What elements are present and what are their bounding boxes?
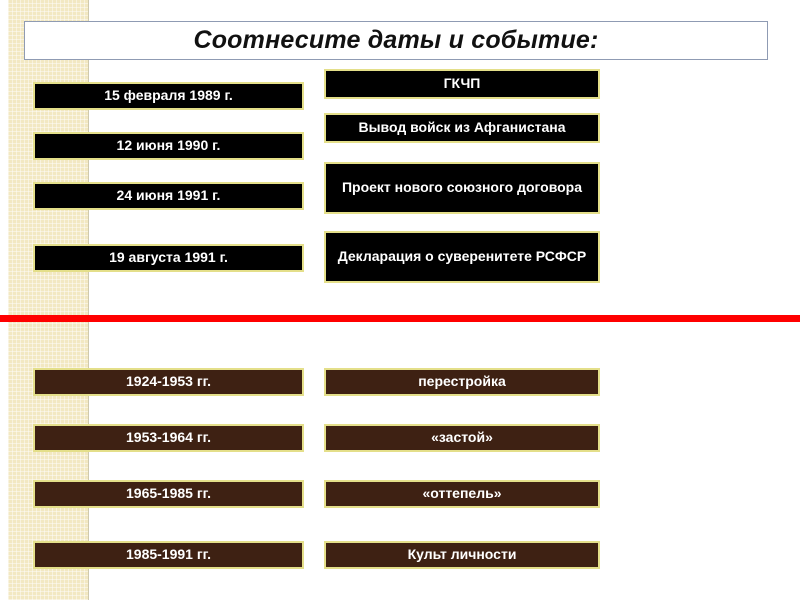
- slide-title-box: Соотнесите даты и событие:: [24, 21, 768, 60]
- term-card-3[interactable]: «оттепель»: [324, 480, 600, 508]
- date-card-1-label: 15 февраля 1989 г.: [104, 88, 233, 104]
- section-divider: [0, 315, 800, 322]
- term-card-1-label: перестройка: [418, 374, 506, 390]
- term-card-3-label: «оттепель»: [422, 486, 501, 502]
- slide-canvas: Соотнесите даты и событие: 15 февраля 19…: [0, 0, 800, 600]
- term-card-4[interactable]: Культ личности: [324, 541, 600, 569]
- period-card-1[interactable]: 1924-1953 гг.: [33, 368, 304, 396]
- event-card-1-label: ГКЧП: [444, 76, 481, 92]
- term-card-2-label: «застой»: [431, 430, 493, 446]
- term-card-2[interactable]: «застой»: [324, 424, 600, 452]
- event-card-2-label: Вывод войск из Афганистана: [358, 120, 565, 136]
- date-card-3-label: 24 июня 1991 г.: [117, 188, 221, 204]
- date-card-2[interactable]: 12 июня 1990 г.: [33, 132, 304, 160]
- period-card-4-label: 1985-1991 гг.: [126, 547, 211, 563]
- page-title: Соотнесите даты и событие:: [193, 26, 598, 55]
- period-card-3[interactable]: 1965-1985 гг.: [33, 480, 304, 508]
- date-card-4[interactable]: 19 августа 1991 г.: [33, 244, 304, 272]
- term-card-1[interactable]: перестройка: [324, 368, 600, 396]
- decorative-side-band-edge: [0, 0, 8, 600]
- event-card-4-label: Декларация о суверенитете РСФСР: [338, 249, 587, 265]
- term-card-4-label: Культ личности: [408, 547, 517, 563]
- event-card-2[interactable]: Вывод войск из Афганистана: [324, 113, 600, 143]
- date-card-3[interactable]: 24 июня 1991 г.: [33, 182, 304, 210]
- event-card-3[interactable]: Проект нового союзного договора: [324, 162, 600, 214]
- period-card-2[interactable]: 1953-1964 гг.: [33, 424, 304, 452]
- date-card-2-label: 12 июня 1990 г.: [117, 138, 221, 154]
- period-card-4[interactable]: 1985-1991 гг.: [33, 541, 304, 569]
- event-card-3-label: Проект нового союзного договора: [342, 180, 582, 196]
- event-card-4[interactable]: Декларация о суверенитете РСФСР: [324, 231, 600, 283]
- date-card-1[interactable]: 15 февраля 1989 г.: [33, 82, 304, 110]
- period-card-2-label: 1953-1964 гг.: [126, 430, 211, 446]
- period-card-3-label: 1965-1985 гг.: [126, 486, 211, 502]
- event-card-1[interactable]: ГКЧП: [324, 69, 600, 99]
- date-card-4-label: 19 августа 1991 г.: [109, 250, 228, 266]
- period-card-1-label: 1924-1953 гг.: [126, 374, 211, 390]
